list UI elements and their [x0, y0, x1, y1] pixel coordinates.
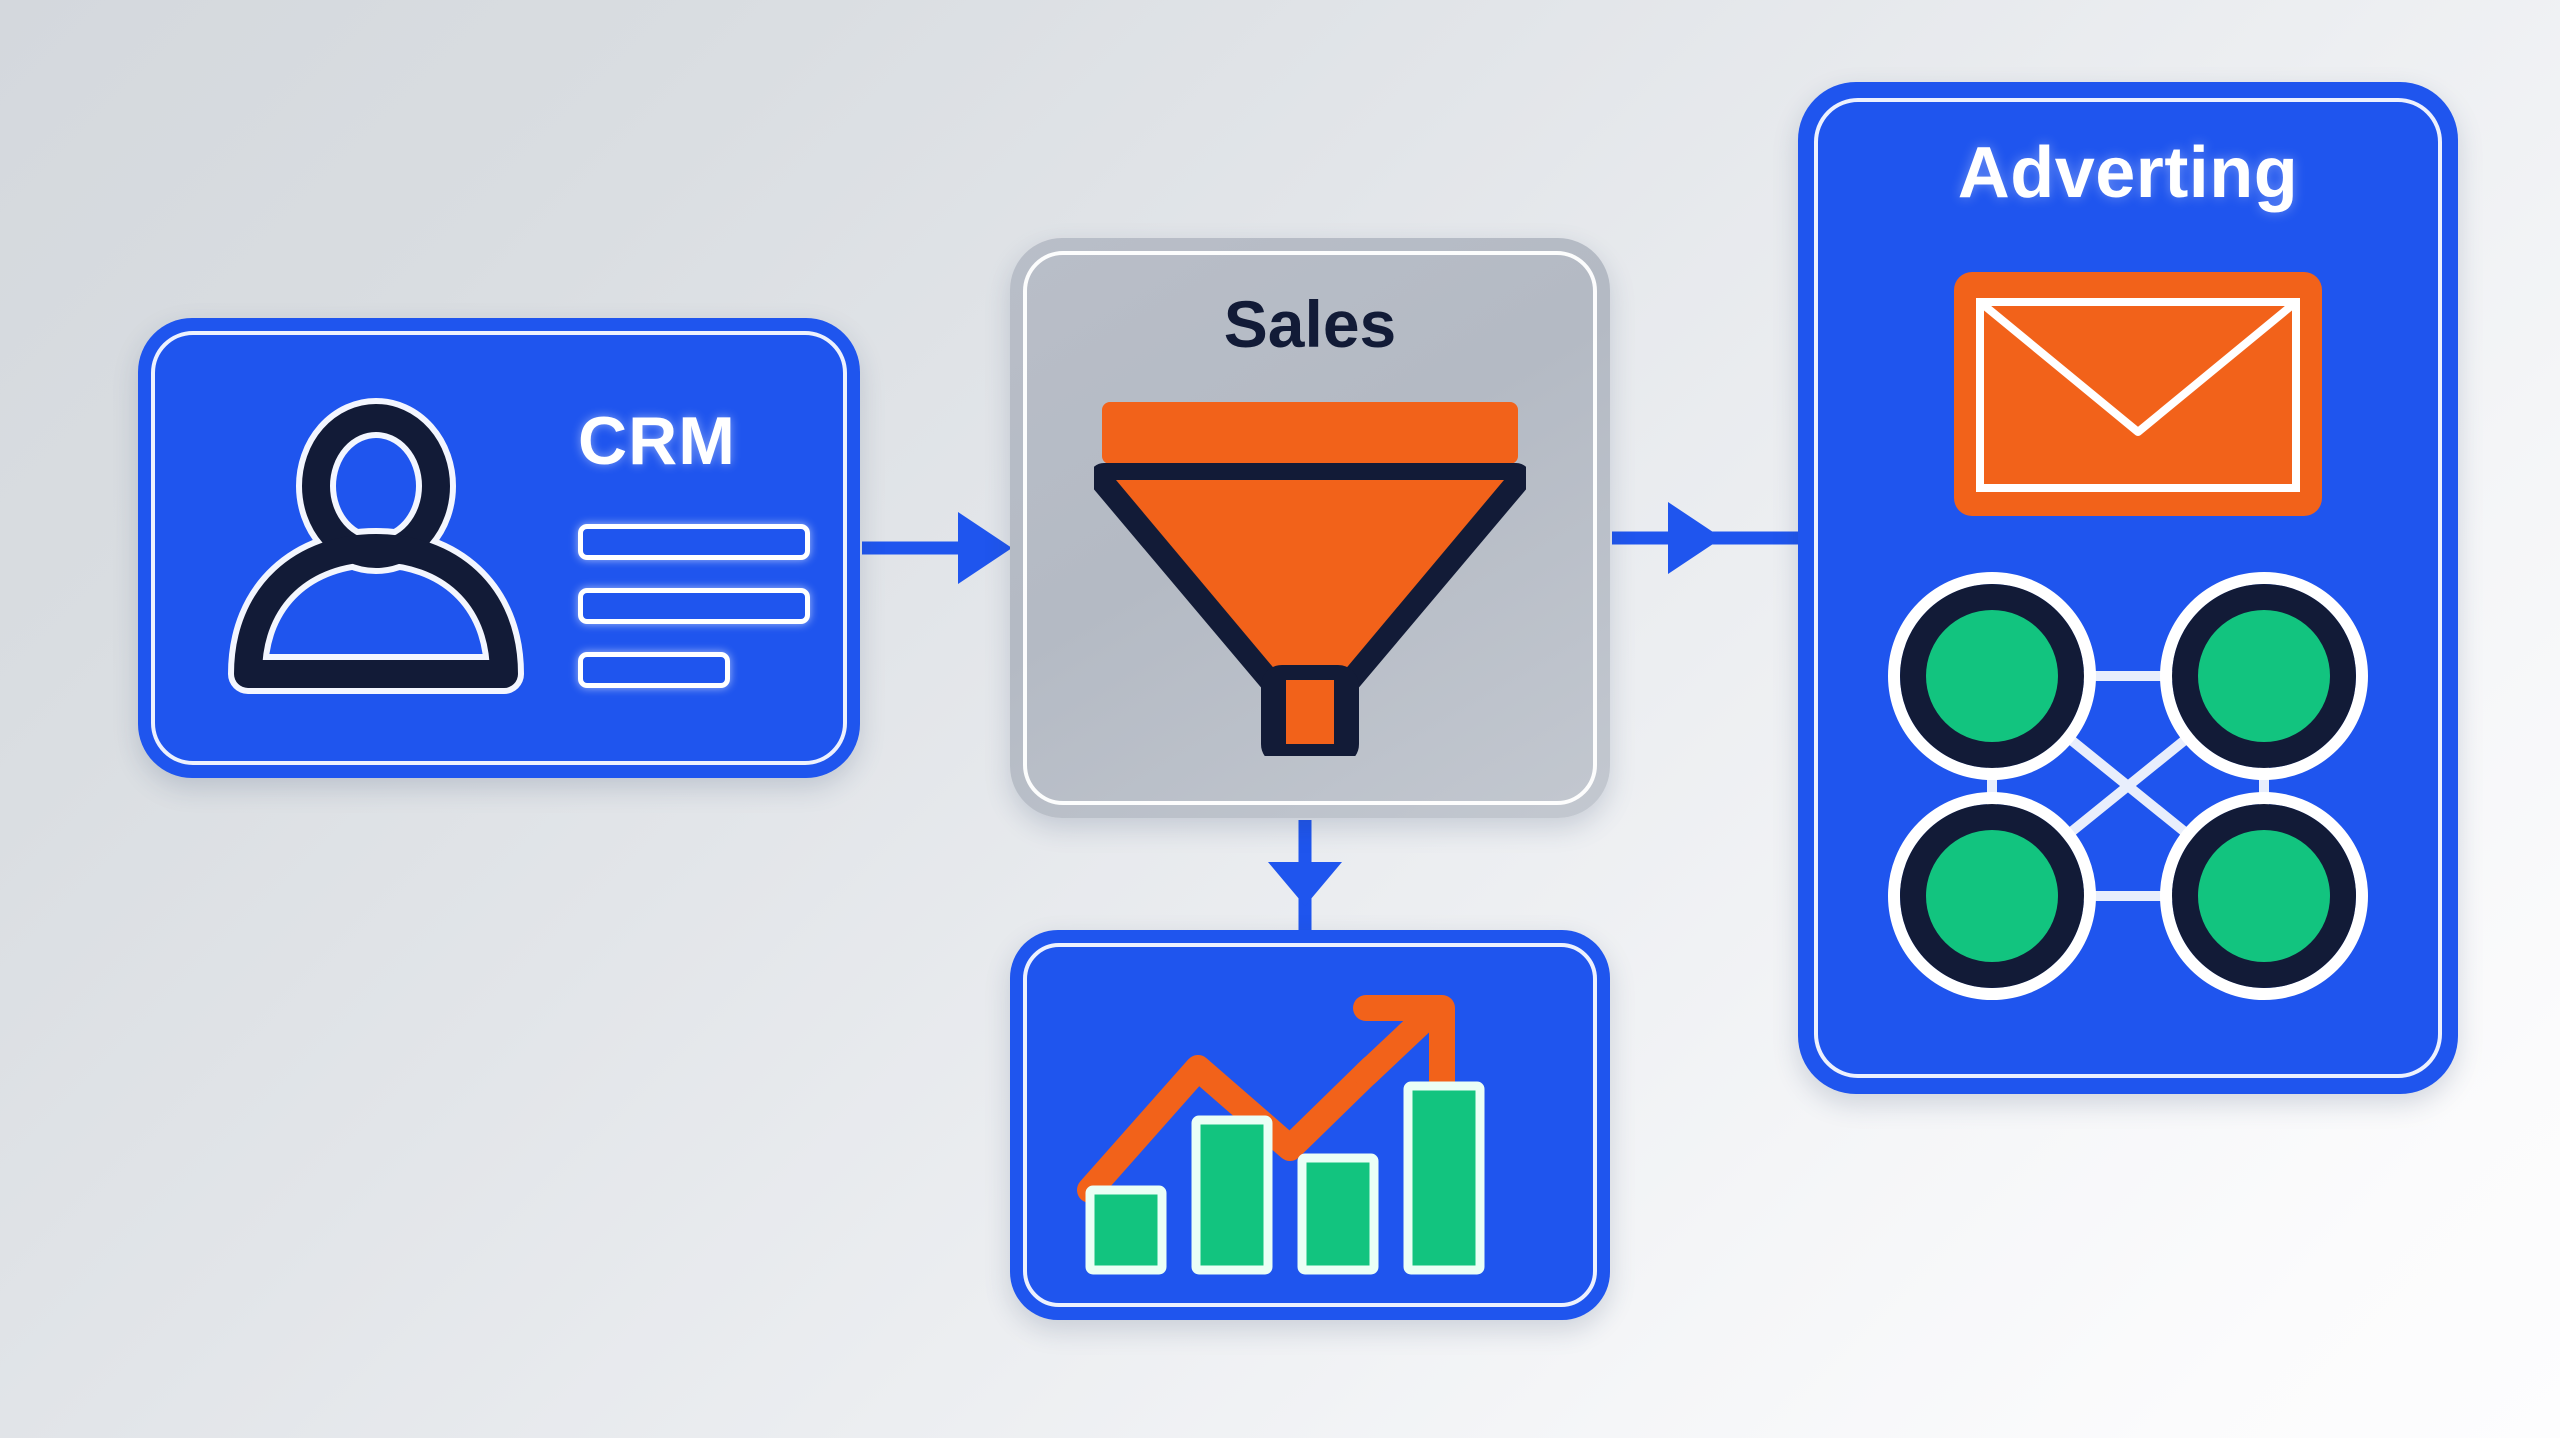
node-card-analytics[interactable] [1010, 930, 1610, 1320]
advertising-label: Adverting [1798, 132, 2458, 214]
network-node [2166, 578, 2362, 774]
network-node [1894, 578, 2090, 774]
crm-detail-line [578, 524, 810, 560]
bar-chart-trend-icon [1070, 972, 1550, 1278]
sales-label: Sales [1010, 286, 1610, 362]
person-icon [226, 398, 526, 698]
crm-detail-line [578, 652, 730, 688]
crm-detail-lines [578, 524, 828, 688]
network-node [2166, 798, 2362, 994]
crm-card-body: CRM [138, 318, 860, 778]
node-card-advertising[interactable]: Adverting [1798, 82, 2458, 1094]
node-card-crm[interactable]: CRM [138, 318, 860, 778]
network-nodes-icon [1870, 566, 2386, 1006]
network-node [1894, 798, 2090, 994]
envelope-icon [1954, 272, 2322, 516]
funnel-icon [1094, 396, 1526, 756]
node-card-sales[interactable]: Sales [1010, 238, 1610, 818]
crm-detail-line [578, 588, 810, 624]
arrow-sales-to-analytics [1268, 820, 1342, 930]
diagram-canvas: CRM Sales [0, 0, 2560, 1438]
arrow-crm-to-sales [862, 512, 1012, 584]
arrow-sales-to-advertising [1612, 502, 1798, 574]
crm-label: CRM [578, 402, 736, 480]
